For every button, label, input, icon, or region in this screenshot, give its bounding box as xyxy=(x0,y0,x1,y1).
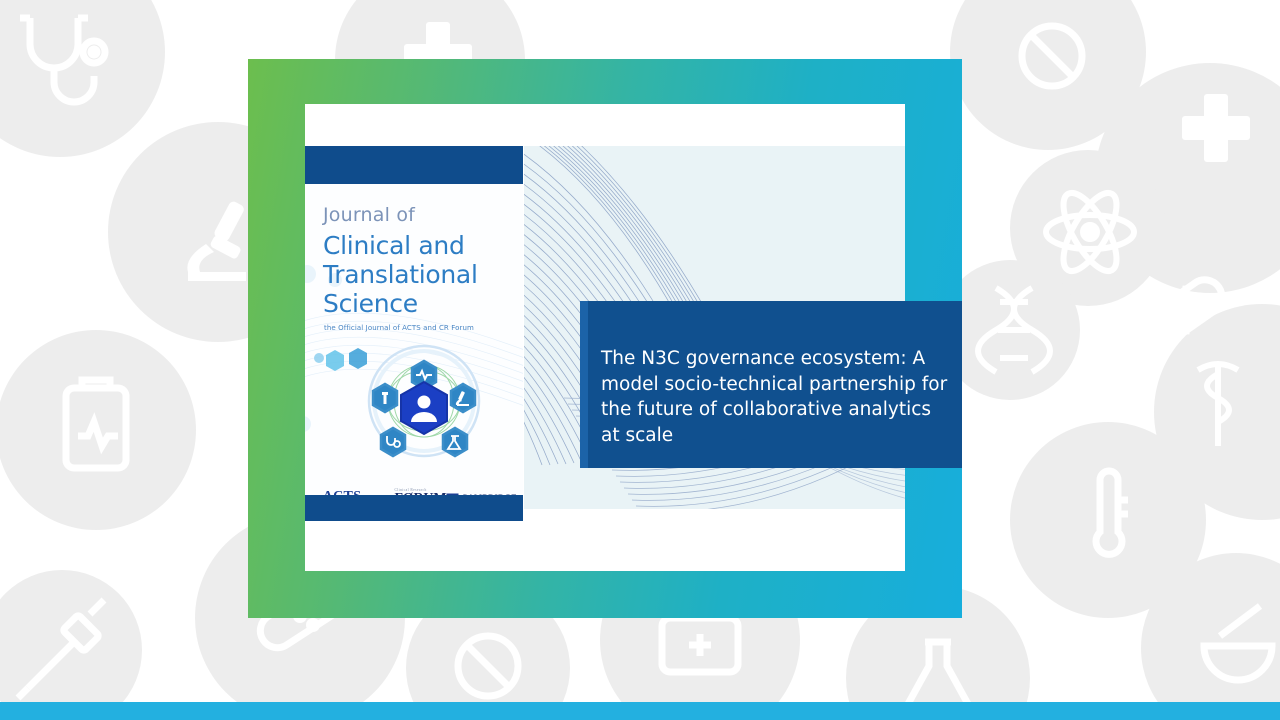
cover-body: Journal of Clinical and Translational Sc… xyxy=(305,184,523,495)
cover-bottom-bar xyxy=(305,495,523,521)
cover-title-line-1: Clinical and xyxy=(323,231,465,260)
cover-title-line-3: Science xyxy=(323,289,418,318)
hexagon-decoration xyxy=(313,346,368,376)
cover-top-bar xyxy=(305,146,523,184)
title-block-stripe xyxy=(580,301,588,468)
article-title: The N3C governance ecosystem: A model so… xyxy=(601,346,951,448)
cover-subtitle: the Official Journal of ACTS and CR Foru… xyxy=(324,324,474,332)
article-title-block: The N3C governance ecosystem: A model so… xyxy=(580,301,962,468)
cover-pre-title: Journal of xyxy=(323,204,415,226)
forum-logo: Clinical Research FØRUM ADVANCING RESEAR… xyxy=(394,488,446,495)
content-card: Journal of Clinical and Translational Sc… xyxy=(305,104,905,571)
bottom-accent-bar xyxy=(0,702,1280,720)
journal-cover: Journal of Clinical and Translational Sc… xyxy=(305,146,523,521)
gradient-frame: Journal of Clinical and Translational Sc… xyxy=(248,59,962,618)
hexagon-network-graphic xyxy=(365,342,483,460)
cover-title-line-2: Translational xyxy=(323,260,478,289)
cover-logos: ACTS ASSOCIATION FOR CLINICAL AND TRANSL… xyxy=(305,480,523,495)
